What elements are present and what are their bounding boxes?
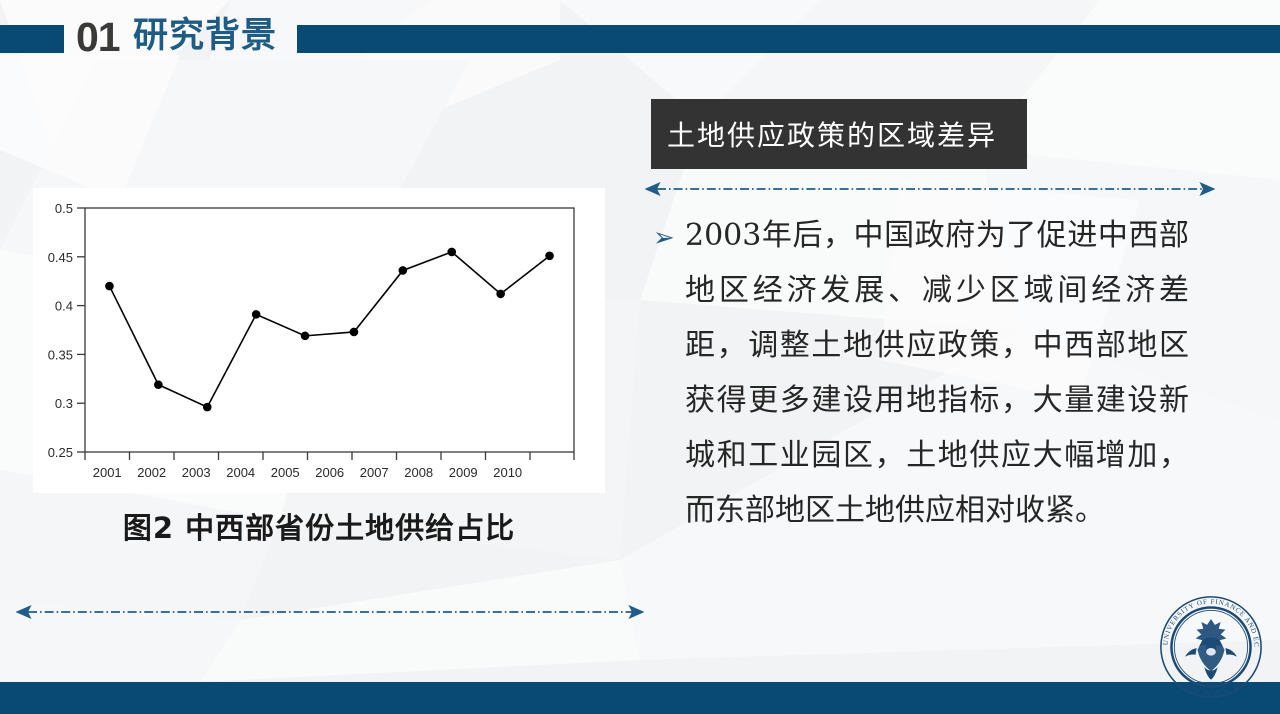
ytick-label-0.4: 0.4 <box>55 299 73 314</box>
xtick-label-2002: 2002 <box>137 465 166 480</box>
divider-arrow-right <box>645 181 1215 197</box>
xtick-label-2010: 2010 <box>493 465 522 480</box>
ytick-label-0.45: 0.45 <box>48 250 73 265</box>
chart-point-2006 <box>350 328 359 337</box>
slide-root: 01 研究背景 0.5 0.45 0.4 0.35 0.3 0 <box>0 0 1280 714</box>
logo-emblem <box>1185 619 1237 680</box>
section-heading-text: 土地供应政策的区域差异 <box>651 114 997 154</box>
xtick-label-2005: 2005 <box>271 465 300 480</box>
xtick-label-2004: 2004 <box>226 465 255 480</box>
chart-point-2004 <box>252 310 261 319</box>
body-text-block: ➢ 2003年后，中国政府为了促进中西部地区经济发展、减少区域间经济差距，调整土… <box>649 208 1189 538</box>
bullet-paragraph-text: 2003年后，中国政府为了促进中西部地区经济发展、减少区域间经济差距，调整土地供… <box>685 218 1189 528</box>
chart-point-2002 <box>154 380 163 389</box>
chart-point-2010 <box>545 252 554 261</box>
ytick-label-0.5: 0.5 <box>55 201 73 216</box>
chart-point-2001 <box>105 282 114 291</box>
ytick-label-0.3: 0.3 <box>55 396 73 411</box>
header-accent-block-left <box>0 25 64 53</box>
header-section-number: 01 <box>76 13 120 61</box>
line-chart: 0.5 0.45 0.4 0.35 0.3 0.25 <box>33 188 605 493</box>
bullet-arrow-icon: ➢ <box>653 211 675 266</box>
ytick-label-0.35: 0.35 <box>48 347 73 362</box>
university-seal-logo: CENTRAL UNIVERSITY OF FINANCE AND ECONOM… <box>1158 594 1264 700</box>
xtick-label-2003: 2003 <box>182 465 211 480</box>
chart-point-2009 <box>496 290 505 299</box>
xtick-label-2007: 2007 <box>360 465 389 480</box>
xtick-label-2001: 2001 <box>93 465 122 480</box>
chart-card: 0.5 0.45 0.4 0.35 0.3 0.25 <box>33 188 605 493</box>
chart-point-2005 <box>301 332 310 341</box>
figure-caption: 图2 中西部省份土地供给占比 <box>33 505 605 547</box>
chart-point-2003 <box>203 403 212 412</box>
xtick-label-2008: 2008 <box>404 465 433 480</box>
xtick-label-2006: 2006 <box>315 465 344 480</box>
chart-point-2008 <box>447 248 456 257</box>
chart-point-2007 <box>399 266 408 275</box>
page-title: 研究背景 <box>133 14 277 58</box>
xtick-label-2009: 2009 <box>449 465 478 480</box>
divider-arrow-left <box>16 604 644 620</box>
header-accent-block-right <box>297 25 1280 53</box>
footer-bar <box>0 682 1280 714</box>
bullet-paragraph: ➢ 2003年后，中国政府为了促进中西部地区经济发展、减少区域间经济差距，调整土… <box>649 208 1189 538</box>
section-heading-box: 土地供应政策的区域差异 <box>651 99 1027 169</box>
ytick-label-0.25: 0.25 <box>48 445 73 460</box>
